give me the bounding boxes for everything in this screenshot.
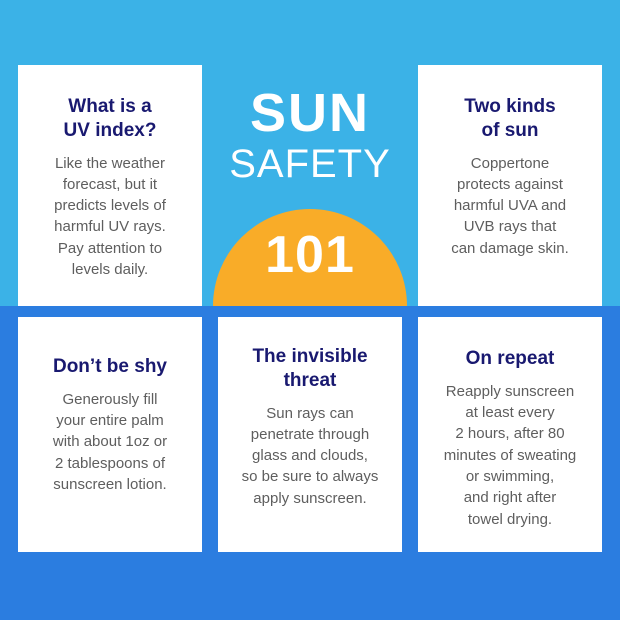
sun-safety-infographic: SUN SAFETY 101 What is aUV index? Like t… [0, 0, 620, 620]
card-two-kinds-body: Coppertoneprotects againstharmful UVA an… [451, 153, 569, 259]
title-line-sun: SUN [200, 86, 420, 140]
card-dont-be-shy-body: Generously fillyour entire palmwith abou… [53, 389, 167, 495]
card-on-repeat: On repeat Reapply sunscreenat least ever… [418, 317, 602, 552]
card-uv-index: What is aUV index? Like the weatherforec… [18, 65, 202, 306]
card-dont-be-shy: Don’t be shy Generously fillyour entire … [18, 317, 202, 552]
card-dont-be-shy-title: Don’t be shy [53, 355, 167, 379]
card-invisible-threat-body: Sun rays canpenetrate throughglass and c… [242, 403, 379, 509]
sun-number-101: 101 [213, 229, 407, 281]
card-two-kinds: Two kindsof sun Coppertoneprotects again… [418, 65, 602, 306]
card-invisible-threat-title: The invisiblethreat [252, 345, 367, 393]
title-line-safety: SAFETY [200, 144, 420, 184]
card-uv-index-body: Like the weatherforecast, but itpredicts… [54, 153, 166, 281]
center-title-block: SUN SAFETY [200, 86, 420, 184]
card-on-repeat-body: Reapply sunscreenat least every2 hours, … [444, 381, 577, 530]
card-invisible-threat: The invisiblethreat Sun rays canpenetrat… [218, 317, 402, 552]
card-two-kinds-title: Two kindsof sun [464, 95, 555, 143]
card-on-repeat-title: On repeat [466, 347, 555, 371]
card-uv-index-title: What is aUV index? [64, 95, 157, 143]
